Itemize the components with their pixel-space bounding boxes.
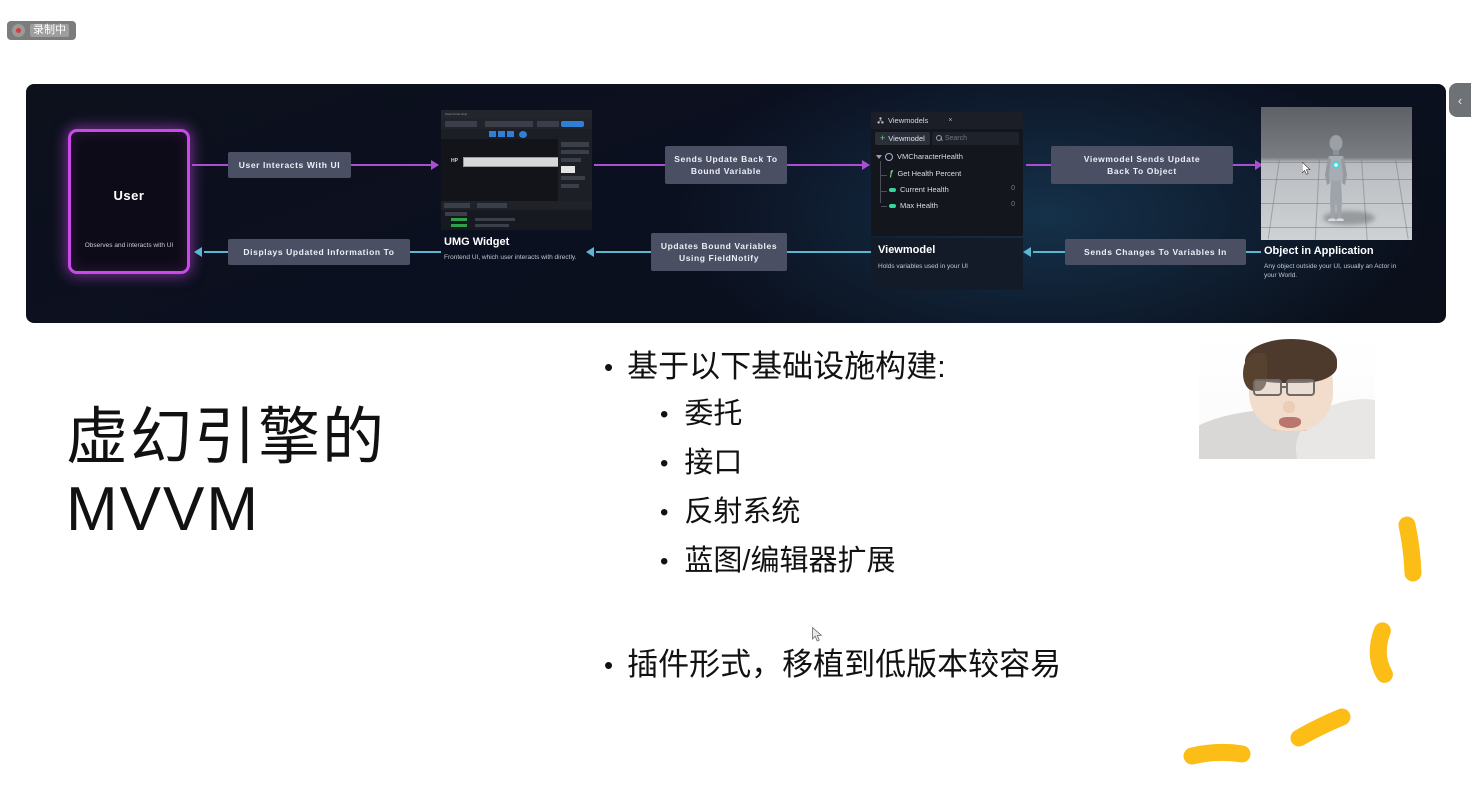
decor-dash-2 [1373, 631, 1391, 675]
diagram-node-user: User Observes and interacts with UI [68, 129, 190, 274]
viewport-cursor-icon [1302, 162, 1311, 175]
webcam-glasses-right [1286, 379, 1315, 396]
object-node-subtitle: Any object outside your UI, usually an A… [1264, 262, 1410, 280]
sub-bullet-text: 蓝图/编辑器扩展 [684, 537, 895, 586]
user-node-title: User [71, 188, 187, 203]
plus-icon: + [880, 134, 885, 143]
object-viewport-screenshot [1261, 107, 1412, 240]
webcam-glasses-left [1253, 379, 1282, 396]
umg-hp-label: HP [451, 158, 458, 164]
arrow-label-umg-to-user: Displays Updated Information To [228, 239, 410, 265]
sub-bullet-text: 委托 [684, 390, 742, 439]
umg-node-subtitle: Frontend UI, which user interacts with d… [444, 253, 589, 262]
sub-bullet-text: 接口 [684, 439, 742, 488]
webcam-mouth [1279, 417, 1301, 428]
arrow-object-to-viewmodel-head [1023, 247, 1031, 257]
tree-row-label: Get Health Percent [897, 169, 961, 178]
bullet-marker: • [660, 537, 668, 586]
bullet-last-text: 插件形式，移植到低版本较容易 [627, 642, 1061, 688]
tree-guide-line [880, 161, 881, 203]
page-title: 虚幻引擎的 MVVM [66, 402, 386, 546]
tree-row-value: 0 [1011, 185, 1015, 192]
tree-row-label: Current Health [900, 185, 949, 194]
chevron-left-icon: ‹ [1458, 93, 1462, 108]
character-mesh [1322, 135, 1350, 221]
tree-row-label: VMCharacterHealth [897, 152, 963, 161]
arrow-label-viewmodel-to-umg: Updates Bound Variables Using FieldNotif… [651, 233, 787, 271]
arrow-label-user-to-umg: User Interacts With UI [228, 152, 351, 178]
function-icon: ƒ [889, 169, 893, 178]
viewmodel-node-footer: Viewmodel Holds variables used in your U… [871, 238, 1023, 290]
tree-twig [881, 191, 887, 192]
recording-badge: 录制中 [7, 21, 76, 40]
webcam-overlay[interactable] [1199, 331, 1375, 459]
umg-node-title: UMG Widget [444, 236, 509, 248]
mouse-cursor-icon [812, 627, 823, 642]
variable-icon [889, 188, 896, 192]
user-node-subtitle: Observes and interacts with UI [77, 242, 181, 249]
webcam-glasses-bridge [1282, 386, 1287, 388]
arrow-label-umg-to-viewmodel: Sends Update Back To Bound Variable [665, 146, 787, 184]
umg-editor-screenshot: Search File Help HP [441, 110, 592, 230]
decorative-dashes [1160, 498, 1471, 796]
page-title-line2: MVVM [66, 474, 386, 546]
tab-viewmodels-label: Viewmodels [888, 116, 928, 125]
viewmodels-tabbar: Viewmodels × [871, 112, 1023, 129]
bullet-last: • 插件形式，移植到低版本较容易 [604, 642, 1061, 688]
tab-viewmodels[interactable]: Viewmodels × [871, 116, 958, 125]
decor-dash-4 [1192, 752, 1242, 756]
tree-row-value: 0 [1011, 201, 1015, 208]
arrow-label-object-to-viewmodel: Sends Changes To Variables In [1065, 239, 1246, 265]
bullet-marker: • [660, 439, 668, 488]
bullet-marker: • [660, 390, 668, 439]
bullet-main-text: 基于以下基础设施构建: [627, 344, 946, 390]
search-input[interactable]: Search [932, 132, 1019, 145]
sub-bullet-item: • 委托 [660, 390, 1284, 439]
decor-dash-3 [1299, 717, 1342, 738]
arrow-umg-to-user-head [194, 247, 202, 257]
viewmodels-icon [877, 117, 884, 124]
sub-bullet-text: 反射系统 [684, 488, 800, 537]
viewmodels-panel: Viewmodels × + Viewmodel Search [871, 112, 1023, 236]
arrow-label-viewmodel-to-object: Viewmodel Sends Update Back To Object [1051, 146, 1233, 184]
viewmodel-node-title: Viewmodel [878, 244, 935, 256]
add-viewmodel-button[interactable]: + Viewmodel [875, 132, 930, 145]
add-viewmodel-label: Viewmodel [888, 134, 925, 143]
mvvm-flow-diagram: User Observes and interacts with UI User… [26, 84, 1446, 323]
bullet-marker: • [660, 488, 668, 537]
tree-row-get-health-percent[interactable]: ƒ Get Health Percent [889, 169, 961, 178]
diagram-node-object: Object in Application Any object outside… [1261, 107, 1412, 293]
search-placeholder: Search [945, 135, 967, 142]
sub-bullet-item: • 接口 [660, 439, 1284, 488]
bullet-main: • 基于以下基础设施构建: [604, 344, 1284, 390]
slide-page: 录制中 ‹ User Observes and interacts with U… [0, 0, 1471, 796]
diagram-node-umg-widget: Search File Help HP [441, 110, 592, 304]
recording-label: 录制中 [30, 24, 69, 37]
close-icon[interactable]: × [948, 117, 952, 124]
tree-twig [881, 175, 887, 176]
tree-twig [881, 206, 887, 207]
arrow-user-to-umg-head [431, 160, 439, 170]
variable-icon [889, 204, 896, 208]
bullet-marker: • [604, 344, 613, 390]
viewmodel-node-subtitle: Holds variables used in your UI [878, 263, 1018, 270]
page-title-line1: 虚幻引擎的 [66, 402, 386, 474]
tree-row-max-health[interactable]: Max Health [889, 201, 938, 210]
arrow-umg-to-viewmodel-head [862, 160, 870, 170]
bullet-marker: • [604, 642, 613, 688]
tree-row-vmcharacterhealth[interactable]: VMCharacterHealth [877, 152, 963, 161]
viewmodels-toolbar: + Viewmodel Search [871, 130, 1023, 146]
diagram-node-viewmodel: Viewmodels × + Viewmodel Search [871, 112, 1023, 290]
object-node-title: Object in Application [1264, 245, 1374, 257]
arrow-viewmodel-to-umg-head [586, 247, 594, 257]
tree-row-current-health[interactable]: Current Health [889, 185, 949, 194]
webcam-nose [1283, 401, 1295, 413]
record-dot-icon [12, 24, 25, 37]
chevron-down-icon[interactable] [876, 155, 882, 159]
collapse-panel-button[interactable]: ‹ [1449, 83, 1471, 117]
umg-health-bar [463, 157, 571, 167]
tree-row-label: Max Health [900, 201, 938, 210]
decor-dash-1 [1407, 525, 1413, 573]
search-icon [936, 135, 942, 141]
class-icon [885, 153, 893, 161]
